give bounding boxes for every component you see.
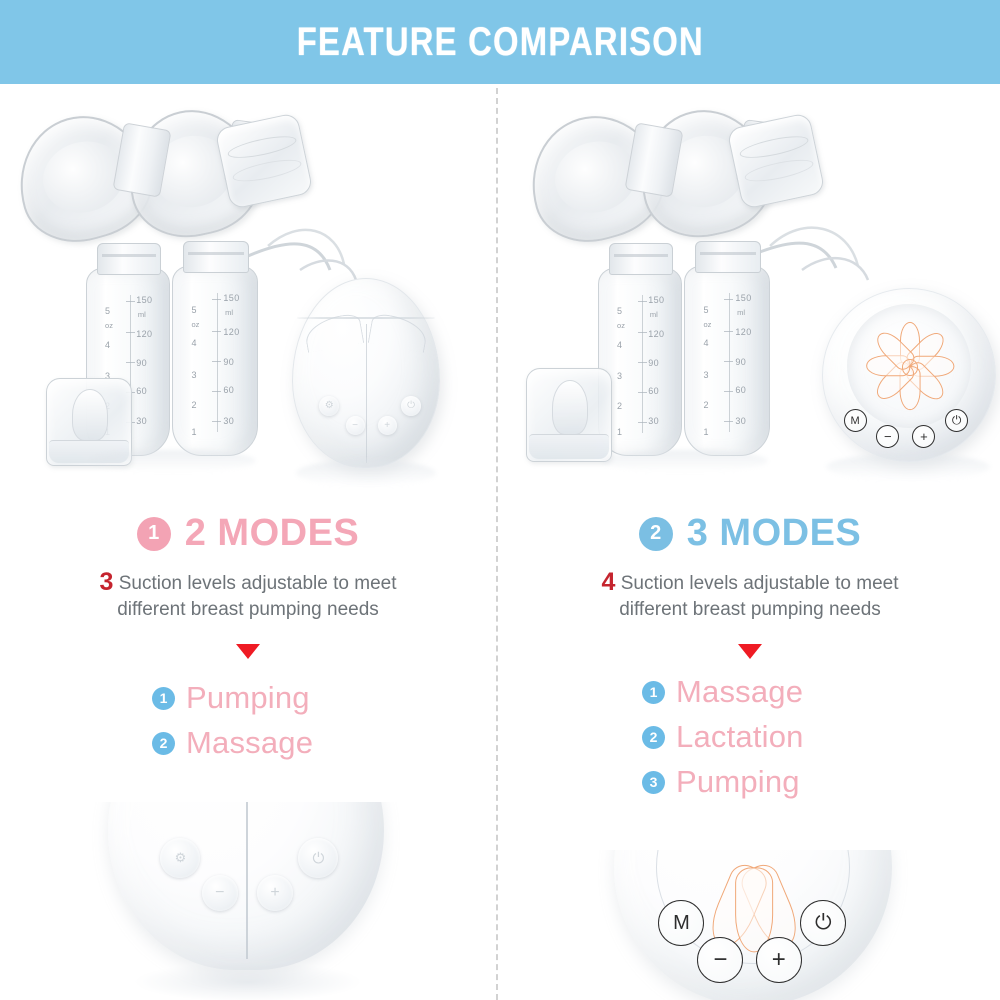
scale-line-2 [729, 293, 730, 432]
ml-label: 60 [735, 385, 746, 395]
ml-label: 150 [735, 293, 751, 303]
list-item: 2 Massage [0, 725, 496, 761]
nipple [552, 380, 588, 435]
nipple [72, 389, 108, 441]
ml-label: 120 [223, 327, 239, 337]
ml-label: 30 [735, 416, 746, 426]
mode-list-left: 1 Pumping 2 Massage [0, 680, 496, 770]
scale-tick [724, 299, 733, 300]
motor-zoom-round: M − + ⏻ [614, 850, 892, 1000]
ml-unit: ml [737, 308, 745, 317]
ml-label: 150 [648, 295, 664, 305]
scale-line-2 [217, 293, 218, 432]
description-line1-right: Suction levels adjustable to meet [621, 573, 899, 594]
oz-label: 4 [191, 338, 196, 348]
ml-label: 90 [223, 357, 234, 367]
ml-label: 30 [223, 416, 234, 426]
oz-unit: oz [105, 321, 113, 330]
oz-label: 2 [191, 400, 196, 410]
mode-list-right: 1 Massage 2 Lactation 3 Pumping [502, 674, 998, 809]
scale-tick [212, 421, 221, 422]
scale-tick [212, 331, 221, 332]
scale-tick [126, 332, 135, 333]
scale-tick [724, 331, 733, 332]
nipple-base [529, 434, 610, 459]
power-button-zoom[interactable]: ⏻ [298, 838, 338, 878]
scale-line-1 [642, 295, 643, 433]
valve-ring-outer [226, 132, 299, 163]
mode-button[interactable]: M [844, 409, 867, 432]
mode-button[interactable]: ⚙ [319, 396, 339, 416]
ml-label: 60 [136, 386, 147, 396]
triangle-down-icon [236, 644, 260, 659]
oz-unit: oz [703, 320, 711, 329]
power-button[interactable]: ⏻ [945, 409, 968, 432]
list-item: 1 Massage [502, 674, 998, 710]
headline-badge-right: 2 [639, 517, 673, 551]
scale-tick [638, 392, 647, 393]
valve-cap [726, 112, 825, 210]
comparison-page: FEATURE COMPARISON [0, 0, 1000, 1000]
oz-label: 1 [617, 427, 622, 437]
plus-button-zoom[interactable]: + [756, 937, 802, 983]
ml-label: 60 [223, 385, 234, 395]
mode-label: Massage [186, 725, 313, 761]
oz-label: 3 [617, 371, 622, 381]
suction-levels-left: 3 [100, 568, 114, 596]
scale-tick [126, 301, 135, 302]
list-item: 2 Lactation [502, 719, 998, 755]
ml-unit: ml [225, 308, 233, 317]
ml-label: 30 [648, 416, 659, 426]
ml-label: 90 [136, 358, 147, 368]
ml-label: 120 [136, 329, 152, 339]
description-line2-right: different breast pumping needs [619, 599, 881, 620]
triangle-down-icon [738, 644, 762, 659]
mode-index-badge: 2 [152, 732, 175, 755]
mode-index-badge: 1 [642, 681, 665, 704]
motor-center-seam [366, 324, 367, 463]
scale-tick [724, 421, 733, 422]
oz-label: 3 [703, 370, 708, 380]
headline-right: 2 3 MODES [502, 512, 998, 555]
product-photo-right: 150 ml 120 90 60 30 5 oz 4 3 2 1 [502, 88, 998, 488]
ml-label: 120 [735, 327, 751, 337]
description-right: 4 Suction levels adjustable to meet diff… [502, 566, 998, 622]
ml-label: 120 [648, 329, 664, 339]
headline-text-left: 2 MODES [185, 512, 360, 555]
ml-label: 90 [735, 357, 746, 367]
valve-ring-inner [743, 155, 816, 186]
oz-label: 3 [191, 370, 196, 380]
bottle-2: 150 ml 120 90 60 30 5 oz 4 3 2 1 [172, 266, 258, 456]
scale-tick [724, 391, 733, 392]
bottle-2: 150 ml 120 90 60 30 5 oz 4 3 2 1 [684, 266, 770, 456]
scale-tick [212, 361, 221, 362]
motor-reflection-right [826, 454, 990, 480]
mode-label: Massage [676, 674, 803, 710]
mode-button-zoom[interactable]: ⚙ [160, 838, 200, 878]
zoom-floor-shadow-left [133, 962, 363, 1000]
power-button[interactable]: ⏻ [401, 396, 421, 416]
motor-unit-round: M − + ⏻ [822, 288, 996, 462]
ml-label: 90 [648, 358, 659, 368]
down-arrow-right [502, 644, 998, 659]
mode-label: Pumping [676, 764, 800, 800]
ml-label: 150 [223, 293, 239, 303]
oz-unit: oz [617, 321, 625, 330]
bottle-2-scale: 150 ml 120 90 60 30 5 oz 4 3 2 1 [173, 267, 257, 455]
minus-button-zoom[interactable]: − [202, 875, 238, 911]
product-photo-left: 150 ml 120 90 60 30 5 oz 4 3 2 1 [0, 88, 496, 488]
oz-label: 1 [703, 427, 708, 437]
headline-left: 1 2 MODES [0, 512, 496, 555]
minus-button-zoom[interactable]: − [697, 937, 743, 983]
suction-levels-right: 4 [602, 568, 616, 596]
valve-ring-inner [231, 155, 304, 186]
scale-tick [638, 301, 647, 302]
power-button-zoom[interactable]: ⏻ [800, 900, 846, 946]
oz-unit: oz [191, 320, 199, 329]
ml-unit: ml [138, 310, 146, 319]
scale-tick [638, 422, 647, 423]
motor-zoom-oval: ⚙ − + ⏻ [108, 802, 384, 970]
plus-button[interactable]: + [378, 416, 397, 435]
oz-label: 4 [703, 338, 708, 348]
headline-badge-left: 1 [137, 517, 171, 551]
oz-label: 5 [105, 306, 110, 316]
list-item: 3 Pumping [502, 764, 998, 800]
scale-tick [212, 299, 221, 300]
comparison-panel-left: 150 ml 120 90 60 30 5 oz 4 3 2 1 [0, 88, 496, 1000]
valve-ring-outer [738, 132, 811, 163]
bottle-reflection-left [90, 450, 256, 472]
zoom-view-right: M − + ⏻ [502, 850, 998, 1000]
ml-label: 60 [648, 386, 659, 396]
mode-index-badge: 3 [642, 771, 665, 794]
description-line1-left: Suction levels adjustable to meet [119, 573, 397, 594]
oz-label: 5 [703, 305, 708, 315]
oz-label: 4 [617, 340, 622, 350]
mode-label: Lactation [676, 719, 804, 755]
motor-unit-oval: ⚙ − + ⏻ [292, 278, 440, 468]
valve-cap [214, 112, 313, 210]
mode-index-badge: 1 [152, 687, 175, 710]
comparison-panel-right: 150 ml 120 90 60 30 5 oz 4 3 2 1 [502, 88, 998, 1000]
teat-nipple-right [526, 368, 612, 462]
scale-tick [724, 361, 733, 362]
panel-divider [496, 88, 498, 1000]
motor-reflection-left [296, 460, 436, 486]
minus-button[interactable]: − [876, 425, 899, 448]
minus-button[interactable]: − [346, 416, 365, 435]
list-item: 1 Pumping [0, 680, 496, 716]
motor-zoom-seam [246, 802, 248, 959]
description-line2-left: different breast pumping needs [117, 599, 379, 620]
ml-label: 30 [136, 416, 147, 426]
headline-text-right: 3 MODES [687, 512, 862, 555]
bottle-2-scale: 150 ml 120 90 60 30 5 oz 4 3 2 1 [685, 267, 769, 455]
plus-button-zoom[interactable]: + [257, 875, 293, 911]
down-arrow-left [0, 644, 496, 659]
oz-label: 2 [617, 401, 622, 411]
plus-button[interactable]: + [912, 425, 935, 448]
description-left: 3 Suction levels adjustable to meet diff… [0, 566, 496, 622]
scale-tick [212, 391, 221, 392]
mode-label: Pumping [186, 680, 310, 716]
oz-label: 5 [617, 306, 622, 316]
motor-lid-seam [297, 317, 434, 319]
oz-label: 5 [191, 305, 196, 315]
oz-label: 4 [105, 340, 110, 350]
ml-label: 150 [136, 295, 152, 305]
header-banner: FEATURE COMPARISON [0, 0, 1000, 84]
flower-hub [902, 359, 919, 376]
oz-label: 2 [703, 400, 708, 410]
mode-index-badge: 2 [642, 726, 665, 749]
oz-label: 1 [191, 427, 196, 437]
zoom-view-left: ⚙ − + ⏻ [0, 802, 496, 1000]
ml-unit: ml [650, 310, 658, 319]
scale-tick [126, 362, 135, 363]
scale-tick [638, 362, 647, 363]
scale-tick [638, 332, 647, 333]
bottle-reflection-right [602, 450, 768, 472]
page-title: FEATURE COMPARISON [296, 20, 703, 65]
